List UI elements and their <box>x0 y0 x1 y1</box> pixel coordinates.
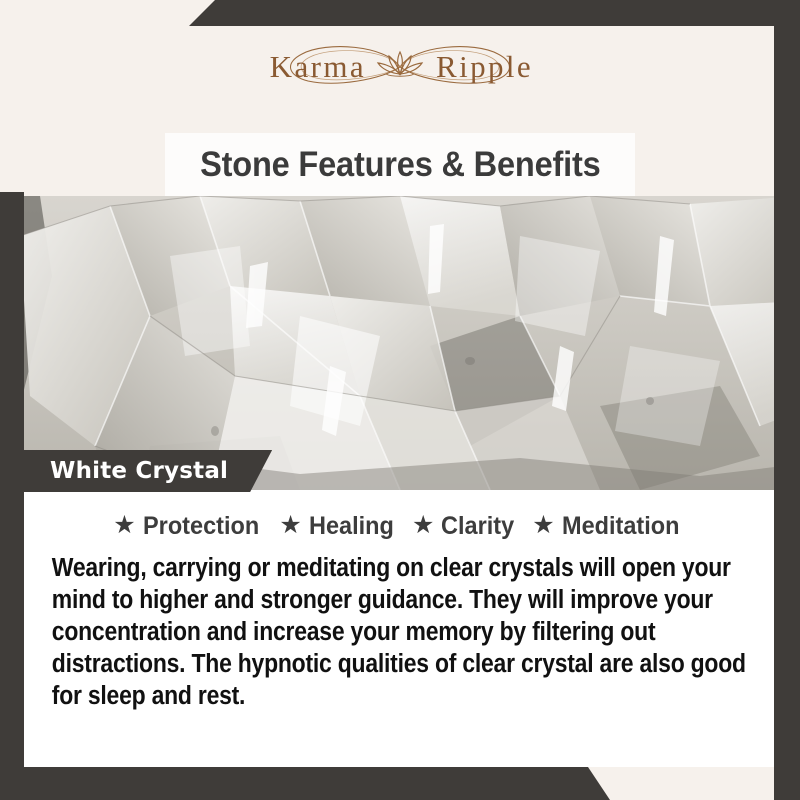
star-icon: ★ <box>113 513 135 538</box>
brand-logo: Karma Ripple <box>0 36 800 98</box>
content-panel: ★ Protection ★ Healing ★ Clarity ★ Medit… <box>24 490 776 767</box>
frame-left-bar <box>0 192 24 800</box>
logo-artwork: Karma Ripple <box>240 36 560 98</box>
star-icon: ★ <box>412 513 434 538</box>
brand-name-right: Ripple <box>436 49 533 84</box>
title-banner: Stone Features & Benefits <box>165 133 635 196</box>
frame-bottom-bar <box>0 767 800 800</box>
benefit-label: Clarity <box>441 512 514 541</box>
benefit-item-clarity: ★ Clarity <box>412 512 519 541</box>
benefit-item-protection: ★ Protection <box>113 512 266 541</box>
benefit-item-healing: ★ Healing <box>279 512 399 541</box>
crystal-photo <box>0 196 800 490</box>
benefit-label: Protection <box>143 512 259 541</box>
benefit-label: Meditation <box>562 512 680 541</box>
page-title: Stone Features & Benefits <box>200 145 601 185</box>
brand-name-left: Karma <box>270 49 366 84</box>
infographic-card: Karma Ripple Stone Features & Benefits <box>0 0 800 800</box>
frame-right-bar <box>774 0 800 800</box>
benefit-label: Healing <box>309 512 394 541</box>
stone-name-label: White Crystal <box>50 458 228 484</box>
stone-name-tag: White Crystal <box>24 450 272 492</box>
benefit-item-meditation: ★ Meditation <box>532 512 686 541</box>
description-text: Wearing, carrying or meditating on clear… <box>50 553 749 712</box>
crystal-photo-artwork <box>0 196 800 490</box>
star-icon: ★ <box>279 513 301 538</box>
frame-top-bar <box>0 0 800 26</box>
star-icon: ★ <box>532 513 554 538</box>
benefits-list: ★ Protection ★ Healing ★ Clarity ★ Medit… <box>50 512 750 541</box>
